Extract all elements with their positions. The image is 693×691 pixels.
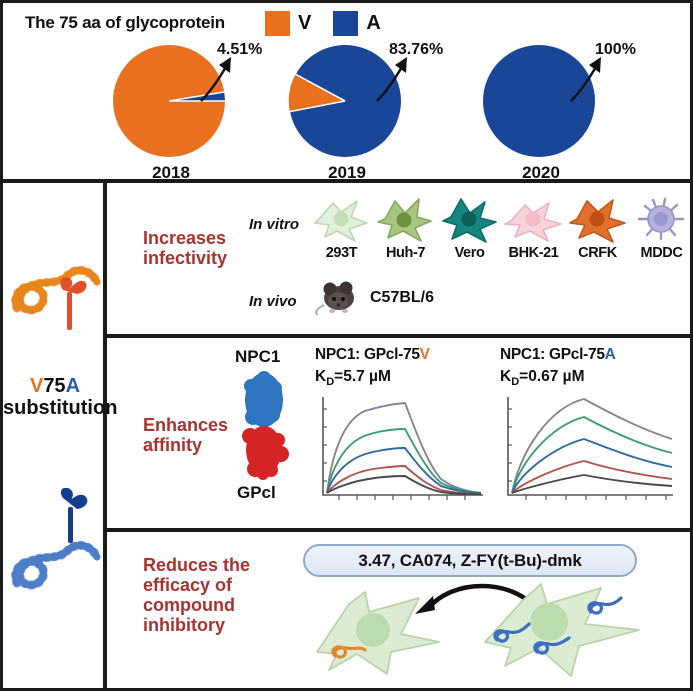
pie-chart-2018: 2018 4.51% bbox=[81, 43, 261, 181]
kd-right-k: K bbox=[500, 368, 511, 385]
cell-line-list: 293T Huh-7 Vero bbox=[310, 197, 693, 261]
cell-before-inhibitor bbox=[295, 590, 445, 682]
cell-name-huh7: Huh-7 bbox=[374, 245, 437, 261]
substitution-v: V bbox=[30, 375, 43, 397]
cell-icon-mddc bbox=[631, 197, 693, 243]
pie-chart-2020: 2020 100% bbox=[451, 43, 631, 181]
callout-arrow-2019 bbox=[373, 55, 421, 103]
infectivity-line1: Increases bbox=[143, 228, 226, 248]
sensorgram-right-variant: A bbox=[605, 346, 616, 363]
pie-year-2018: 2018 bbox=[81, 163, 261, 183]
mechanism-panel: V75A substitution Increases infectivity bbox=[3, 183, 690, 688]
affinity-line1: Enhances bbox=[143, 415, 228, 435]
row-label-inhibitory: Reduces the efficacy of compound inhibit… bbox=[143, 555, 250, 636]
in-vitro-label: In vitro bbox=[249, 216, 299, 233]
sensorgram-left-title-prefix: NPC1: GPcl-75 bbox=[315, 346, 420, 363]
sensorgram-gpcl-75a: NPC1: GPcl-75A KD=0.67 µM bbox=[500, 346, 675, 514]
inhibitory-line3: compound bbox=[143, 595, 235, 615]
cell-name-vero: Vero bbox=[438, 245, 501, 261]
kd-left-value: =5.7 µM bbox=[334, 368, 391, 385]
cell-item-crfk: CRFK bbox=[566, 197, 629, 261]
virion-orange-icon bbox=[5, 238, 105, 358]
in-vivo-label: In vivo bbox=[249, 293, 297, 310]
cell-item-huh7: Huh-7 bbox=[374, 197, 437, 261]
callout-arrow-2020 bbox=[567, 55, 615, 103]
substitution-label: V75A substitution bbox=[3, 376, 107, 419]
compound-list-text: 3.47, CA074, Z-FY(t-Bu)-dmk bbox=[358, 551, 581, 571]
legend-label-a: A bbox=[366, 12, 380, 35]
cell-name-crfk: CRFK bbox=[566, 245, 629, 261]
infectivity-line2: infectivity bbox=[143, 248, 227, 268]
kd-left-k: K bbox=[315, 368, 326, 385]
legend-swatch-v bbox=[265, 11, 290, 36]
pie-callout-2018: 4.51% bbox=[217, 41, 262, 59]
substitution-column: V75A substitution bbox=[3, 183, 107, 688]
glycoprotein-prevalence-panel: The 75 aa of glycoprotein V A 2018 bbox=[3, 3, 690, 183]
legend-swatch-a bbox=[333, 11, 358, 36]
mouse-strain-label: C57BL/6 bbox=[370, 289, 434, 307]
cell-icon-bhk21 bbox=[503, 197, 565, 243]
row-label-affinity: Enhances affinity bbox=[143, 415, 228, 455]
pie-callout-2019: 83.76% bbox=[389, 41, 443, 59]
cell-icon-vero bbox=[439, 197, 501, 243]
virion-blue-icon bbox=[5, 488, 105, 613]
compound-list-badge: 3.47, CA074, Z-FY(t-Bu)-dmk bbox=[303, 544, 637, 577]
page-title: The 75 aa of glycoprotein bbox=[25, 13, 225, 33]
row-enhances-affinity: Enhances affinity NPC1 bbox=[107, 338, 690, 532]
cell-item-vero: Vero bbox=[438, 197, 501, 261]
mouse-icon bbox=[312, 279, 364, 317]
row-reduces-efficacy: Reduces the efficacy of compound inhibit… bbox=[107, 532, 690, 688]
legend-label-v: V bbox=[298, 12, 311, 35]
npc1-label: NPC1 bbox=[235, 347, 280, 367]
cell-item-bhk21: BHK-21 bbox=[502, 197, 565, 261]
sensorgram-right-plot bbox=[500, 391, 675, 509]
substitution-a: A bbox=[66, 375, 80, 397]
sensorgram-right-kd: KD=0.67 µM bbox=[500, 368, 675, 388]
pie-year-2020: 2020 bbox=[451, 163, 631, 183]
pie-year-2019: 2019 bbox=[257, 163, 437, 183]
cell-after-inhibitor bbox=[467, 582, 647, 682]
inhibitory-line1: Reduces the bbox=[143, 555, 250, 575]
kd-right-sub: D bbox=[511, 376, 519, 388]
inhibitory-line2: efficacy of bbox=[143, 575, 232, 595]
mouse-model: C57BL/6 bbox=[312, 279, 434, 317]
row-increases-infectivity: Increases infectivity In vitro In vivo 2… bbox=[107, 183, 690, 338]
cell-icon-293t bbox=[311, 197, 373, 243]
cell-name-bhk21: BHK-21 bbox=[502, 245, 565, 261]
row-label-infectivity: Increases infectivity bbox=[143, 228, 227, 268]
substitution-number: 75 bbox=[43, 375, 65, 397]
cell-item-mddc: MDDC bbox=[630, 197, 693, 261]
sensorgram-left-kd: KD=5.7 µM bbox=[315, 368, 485, 388]
findings-column: Increases infectivity In vitro In vivo 2… bbox=[107, 183, 690, 688]
sensorgram-left-plot bbox=[315, 391, 485, 509]
sensorgram-right-title-prefix: NPC1: GPcl-75 bbox=[500, 346, 605, 363]
inhibitory-line4: inhibitory bbox=[143, 615, 225, 635]
cell-icon-huh7 bbox=[375, 197, 437, 243]
substitution-word: substitution bbox=[3, 397, 117, 419]
sensorgram-gpcl-75v: NPC1: GPcl-75V KD=5.7 µM bbox=[315, 346, 485, 514]
npc1-gpcl-structure-icon bbox=[233, 370, 299, 482]
cell-item-293t: 293T bbox=[310, 197, 373, 261]
legend: V A bbox=[265, 11, 395, 36]
sensorgram-left-variant: V bbox=[420, 346, 430, 363]
sensorgram-right-title: NPC1: GPcl-75A bbox=[500, 346, 675, 364]
graphical-abstract: The 75 aa of glycoprotein V A 2018 bbox=[0, 0, 693, 691]
pie-callout-2020: 100% bbox=[595, 41, 636, 59]
kd-left-sub: D bbox=[326, 376, 334, 388]
affinity-line2: affinity bbox=[143, 435, 202, 455]
cell-name-mddc: MDDC bbox=[630, 245, 693, 261]
kd-right-value: =0.67 µM bbox=[519, 368, 584, 385]
gpcl-label: GPcl bbox=[237, 483, 276, 503]
pie-chart-2019: 2019 83.76% bbox=[257, 43, 437, 181]
sensorgram-left-title: NPC1: GPcl-75V bbox=[315, 346, 485, 364]
cell-icon-crfk bbox=[567, 197, 629, 243]
callout-arrow-2018 bbox=[197, 55, 245, 103]
cell-name-293t: 293T bbox=[310, 245, 373, 261]
